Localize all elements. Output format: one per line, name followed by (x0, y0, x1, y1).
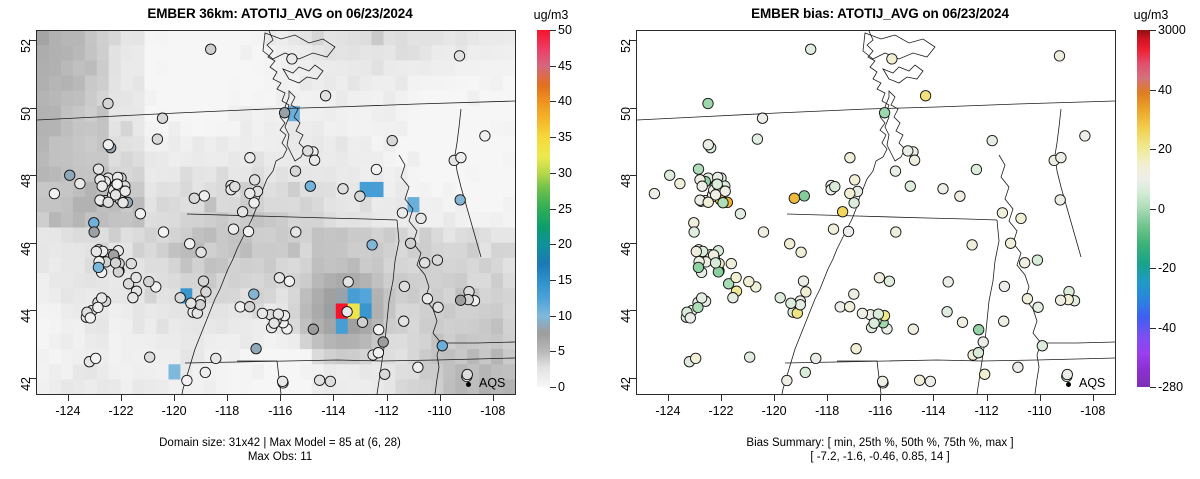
colorbar-tick (550, 101, 556, 102)
observation-site-marker[interactable] (857, 308, 867, 318)
observation-site-marker[interactable] (685, 313, 695, 323)
observation-site-marker[interactable] (65, 170, 75, 180)
aqs-legend-label: AQS (479, 376, 505, 390)
observation-site-marker[interactable] (830, 181, 840, 191)
colorbar-tick (1150, 268, 1156, 269)
bias-observation-markers (637, 31, 1115, 394)
observation-site-marker[interactable] (999, 281, 1009, 291)
x-tick (493, 395, 494, 401)
observation-site-marker[interactable] (75, 178, 85, 188)
observation-site-marker[interactable] (195, 300, 205, 310)
observation-site-marker[interactable] (49, 188, 59, 198)
colorbar-tick (1150, 387, 1156, 388)
observation-site-marker[interactable] (795, 300, 805, 310)
observation-site-marker[interactable] (785, 239, 795, 249)
observation-site-marker[interactable] (279, 108, 289, 118)
observation-site-marker[interactable] (456, 152, 466, 162)
observation-site-marker[interactable] (437, 341, 447, 351)
aqs-legend-label-bias: AQS (1079, 376, 1105, 390)
colorbar-tick-label: -20 (1158, 261, 1176, 275)
colorbar-tick (1150, 149, 1156, 150)
observation-site-marker[interactable] (93, 302, 103, 312)
caption-bias-summary-values: [ -7.2, -1.6, -0.46, 0.85, 14 ] (600, 450, 1160, 464)
observation-site-marker[interactable] (1080, 131, 1090, 141)
colorbar-tick-label: 0 (1158, 202, 1165, 216)
observation-site-marker[interactable] (413, 362, 423, 372)
observation-site-marker[interactable] (308, 324, 318, 334)
x-tick-label: -114 (903, 404, 963, 418)
observation-site-marker[interactable] (196, 247, 206, 257)
colorbar-tick (550, 209, 556, 210)
colorbar-tick (550, 30, 556, 31)
observation-site-marker[interactable] (97, 181, 107, 191)
observation-site-marker[interactable] (955, 191, 965, 201)
observation-site-marker[interactable] (1037, 341, 1047, 351)
observation-site-marker[interactable] (1013, 362, 1023, 372)
colorbar-tick-label: 50 (558, 23, 572, 37)
observation-site-marker[interactable] (849, 289, 859, 299)
observation-site-marker[interactable] (999, 316, 1009, 326)
colorbar-tick-label: 40 (558, 94, 572, 108)
observation-site-marker[interactable] (93, 164, 103, 174)
observation-site-marker[interactable] (971, 164, 981, 174)
colorbar-tick-label: 5 (558, 344, 565, 358)
observation-site-marker[interactable] (230, 181, 240, 191)
observation-site-marker[interactable] (693, 164, 703, 174)
y-tick-label: 46 (19, 242, 33, 268)
observation-site-marker[interactable] (909, 155, 919, 165)
aqs-legend-dot-icon-bias (1066, 382, 1071, 387)
x-tick (1093, 395, 1094, 401)
observation-site-marker[interactable] (942, 307, 952, 317)
x-tick (1040, 395, 1041, 401)
observation-site-marker[interactable] (397, 208, 407, 218)
observation-site-marker[interactable] (697, 293, 707, 303)
x-tick-label: -112 (357, 404, 417, 418)
observation-site-marker[interactable] (355, 191, 365, 201)
observation-site-marker[interactable] (189, 193, 199, 203)
x-tick (440, 395, 441, 401)
observation-site-marker[interactable] (905, 181, 915, 191)
observation-site-marker[interactable] (320, 91, 330, 101)
x-tick (121, 395, 122, 401)
observation-site-marker[interactable] (175, 293, 185, 303)
observation-site-marker[interactable] (243, 226, 253, 236)
caption-bias-summary-header: Bias Summary: [ min, 25th %, 50th %, 75t… (600, 436, 1160, 450)
colorbar-tick-label: 30 (558, 166, 572, 180)
observation-site-marker[interactable] (110, 258, 120, 268)
caption-domain-size: Domain size: 31x42 | Max Model = 85 at (… (0, 436, 560, 450)
observation-site-marker[interactable] (93, 262, 103, 272)
observation-site-marker[interactable] (455, 295, 465, 305)
observation-site-marker[interactable] (745, 352, 755, 362)
observation-site-marker[interactable] (206, 44, 216, 54)
observation-site-marker[interactable] (845, 302, 855, 312)
observation-site-marker[interactable] (837, 207, 847, 217)
aqs-legend-dot-icon (466, 382, 471, 387)
observation-site-marker[interactable] (710, 190, 720, 200)
observation-site-marker[interactable] (277, 376, 287, 386)
observation-site-marker[interactable] (849, 198, 859, 208)
observation-site-marker[interactable] (157, 113, 167, 123)
observation-site-marker[interactable] (290, 166, 300, 176)
observation-site-marker[interactable] (380, 369, 390, 379)
observation-site-marker[interactable] (387, 135, 397, 145)
x-tick (880, 395, 881, 401)
observation-site-marker[interactable] (1020, 258, 1030, 268)
observation-site-marker[interactable] (342, 307, 352, 317)
x-tick (387, 395, 388, 401)
observation-site-marker[interactable] (245, 302, 255, 312)
x-tick (987, 395, 988, 401)
colorbar-tick (550, 280, 556, 281)
x-tick (668, 395, 669, 401)
observation-site-marker[interactable] (914, 375, 924, 385)
observation-site-marker[interactable] (693, 262, 703, 272)
colorbar-tick-label: 20 (558, 237, 572, 251)
observation-site-marker[interactable] (735, 209, 745, 219)
observation-site-marker[interactable] (462, 369, 472, 379)
colorbar-gradient-model (537, 30, 550, 387)
observation-site-marker[interactable] (144, 276, 154, 286)
observation-site-marker[interactable] (85, 313, 95, 323)
x-tick (827, 395, 828, 401)
observation-site-marker[interactable] (399, 316, 409, 326)
observation-site-marker[interactable] (367, 240, 377, 250)
x-tick-label: -120 (744, 404, 804, 418)
observation-site-marker[interactable] (186, 298, 196, 308)
observation-site-marker[interactable] (1056, 152, 1066, 162)
figure-canvas: EMBER 36km: ATOTIJ_AVG on 06/23/2024 -12… (0, 0, 1200, 479)
y-tick-label: 44 (619, 309, 633, 335)
observation-site-marker[interactable] (432, 255, 442, 265)
observation-site-marker[interactable] (974, 325, 984, 335)
x-tick-label: -122 (91, 404, 151, 418)
y-tick-label: 48 (619, 174, 633, 200)
map-plot-model[interactable] (36, 30, 516, 395)
observation-site-marker[interactable] (257, 308, 267, 318)
observation-site-marker[interactable] (1054, 51, 1064, 61)
observation-site-marker[interactable] (1032, 255, 1042, 265)
observation-site-marker[interactable] (884, 276, 894, 286)
observation-site-marker[interactable] (433, 302, 443, 312)
observation-markers (37, 31, 515, 394)
observation-site-marker[interactable] (786, 298, 796, 308)
observation-site-marker[interactable] (420, 258, 430, 268)
observation-site-marker[interactable] (903, 146, 913, 156)
observation-site-marker[interactable] (691, 353, 701, 363)
observation-site-marker[interactable] (357, 317, 367, 327)
observation-site-marker[interactable] (665, 170, 675, 180)
x-tick-label: -108 (1063, 404, 1123, 418)
observation-site-marker[interactable] (801, 287, 811, 297)
observation-site-marker[interactable] (877, 376, 887, 386)
colorbar-tick (550, 173, 556, 174)
observation-site-marker[interactable] (235, 302, 245, 312)
colorbar-tick (1150, 209, 1156, 210)
colorbar-tick (550, 387, 556, 388)
colorbar-tick (550, 316, 556, 317)
observation-site-marker[interactable] (691, 246, 701, 256)
observation-site-marker[interactable] (249, 289, 259, 299)
observation-site-marker[interactable] (887, 54, 897, 64)
observation-site-marker[interactable] (806, 44, 816, 54)
observation-site-marker[interactable] (374, 325, 384, 335)
observation-site-marker[interactable] (251, 344, 261, 354)
observation-site-marker[interactable] (744, 276, 754, 286)
observation-site-marker[interactable] (789, 193, 799, 203)
x-tick (933, 395, 934, 401)
observation-site-marker[interactable] (343, 277, 353, 287)
observation-site-marker[interactable] (811, 353, 821, 363)
observation-site-marker[interactable] (399, 281, 409, 291)
panel-title-bias: EMBER bias: ATOTIJ_AVG on 06/23/2024 (600, 6, 1160, 21)
observation-site-marker[interactable] (1055, 295, 1065, 305)
colorbar-tick-label: 3000 (1158, 23, 1186, 37)
observation-site-marker[interactable] (103, 140, 113, 150)
observation-site-marker[interactable] (752, 134, 762, 144)
observation-site-marker[interactable] (480, 131, 490, 141)
observation-site-marker[interactable] (110, 190, 120, 200)
colorbar-tick (1150, 90, 1156, 91)
observation-site-marker[interactable] (890, 166, 900, 176)
observation-site-marker[interactable] (869, 318, 879, 328)
x-tick (774, 395, 775, 401)
observation-site-marker[interactable] (182, 375, 192, 385)
observation-site-marker[interactable] (978, 337, 988, 347)
x-tick-label: -120 (144, 404, 204, 418)
observation-site-marker[interactable] (454, 51, 464, 61)
x-tick-label: -122 (691, 404, 751, 418)
observation-site-marker[interactable] (1016, 213, 1026, 223)
y-tick-label: 42 (19, 377, 33, 403)
x-tick-label: -110 (410, 404, 470, 418)
observation-site-marker[interactable] (145, 352, 155, 362)
observation-site-marker[interactable] (97, 293, 107, 303)
colorbar-tick-label: 10 (558, 309, 572, 323)
y-tick-label: 44 (19, 309, 33, 335)
observation-site-marker[interactable] (405, 238, 415, 248)
colorbar-tick-label: 45 (558, 59, 572, 73)
y-tick-label: 52 (619, 39, 633, 65)
observation-site-marker[interactable] (152, 134, 162, 144)
observation-site-marker[interactable] (103, 98, 113, 108)
observation-site-marker[interactable] (305, 181, 315, 191)
observation-site-marker[interactable] (131, 272, 141, 282)
x-tick-label: -118 (797, 404, 857, 418)
observation-site-marker[interactable] (850, 175, 860, 185)
observation-site-marker[interactable] (943, 277, 953, 287)
observation-site-marker[interactable] (757, 113, 767, 123)
observation-site-marker[interactable] (775, 293, 785, 303)
x-tick (227, 395, 228, 401)
observation-site-marker[interactable] (250, 175, 260, 185)
colorbar-tick (1150, 328, 1156, 329)
colorbar-unit-bias: ug/m3 (1121, 8, 1181, 22)
observation-site-marker[interactable] (851, 344, 861, 354)
observation-site-marker[interactable] (987, 135, 997, 145)
observation-site-marker[interactable] (291, 227, 301, 237)
observation-site-marker[interactable] (373, 348, 383, 358)
panel-title-model: EMBER 36km: ATOTIJ_AVG on 06/23/2024 (0, 6, 560, 21)
observation-site-marker[interactable] (845, 153, 855, 163)
observation-site-marker[interactable] (726, 258, 736, 268)
colorbar-tick (1150, 30, 1156, 31)
observation-site-marker[interactable] (269, 318, 279, 328)
observation-site-marker[interactable] (799, 191, 809, 201)
observation-site-marker[interactable] (957, 317, 967, 327)
observation-site-marker[interactable] (1055, 195, 1065, 205)
x-tick-label: -114 (303, 404, 363, 418)
observation-site-marker[interactable] (199, 191, 209, 201)
observation-site-marker[interactable] (731, 272, 741, 282)
observation-site-marker[interactable] (287, 54, 297, 64)
x-tick (174, 395, 175, 401)
observation-site-marker[interactable] (689, 227, 699, 237)
observation-site-marker[interactable] (973, 348, 983, 358)
colorbar-tick-label: 40 (1158, 83, 1172, 97)
observation-site-marker[interactable] (920, 91, 930, 101)
x-tick-label: -118 (197, 404, 257, 418)
observation-site-marker[interactable] (228, 224, 238, 234)
observation-site-marker[interactable] (158, 227, 168, 237)
observation-site-marker[interactable] (128, 293, 138, 303)
colorbar-tick-label: 25 (558, 202, 572, 216)
panel-model: EMBER 36km: ATOTIJ_AVG on 06/23/2024 -12… (0, 0, 600, 479)
observation-site-marker[interactable] (891, 227, 901, 237)
x-tick-label: -110 (1010, 404, 1070, 418)
observation-site-marker[interactable] (798, 276, 808, 286)
colorbar-tick-label: 20 (1158, 142, 1172, 156)
observation-site-marker[interactable] (91, 246, 101, 256)
observation-site-marker[interactable] (378, 337, 388, 347)
colorbar-unit-model: ug/m3 (521, 8, 581, 22)
observation-site-marker[interactable] (89, 227, 99, 237)
observation-site-marker[interactable] (703, 98, 713, 108)
colorbar-tick (550, 351, 556, 352)
observation-site-marker[interactable] (675, 178, 685, 188)
observation-site-marker[interactable] (201, 287, 211, 297)
observation-site-marker[interactable] (710, 258, 720, 268)
y-tick-label: 50 (19, 107, 33, 133)
observation-site-marker[interactable] (1062, 369, 1072, 379)
observation-site-marker[interactable] (1033, 302, 1043, 312)
observation-site-marker[interactable] (1005, 238, 1015, 248)
observation-site-marker[interactable] (245, 153, 255, 163)
x-tick-label: -116 (250, 404, 310, 418)
y-tick-label: 52 (19, 39, 33, 65)
x-tick (721, 395, 722, 401)
observation-site-marker[interactable] (649, 188, 659, 198)
observation-site-marker[interactable] (835, 302, 845, 312)
x-tick-label: -116 (850, 404, 910, 418)
observation-site-marker[interactable] (135, 209, 145, 219)
observation-site-marker[interactable] (967, 240, 977, 250)
x-tick-label: -112 (957, 404, 1017, 418)
observation-site-marker[interactable] (693, 302, 703, 312)
observation-site-marker[interactable] (126, 258, 136, 268)
colorbar-tick-label: -280 (1158, 380, 1183, 394)
observation-site-marker[interactable] (800, 367, 810, 377)
observation-site-marker[interactable] (997, 208, 1007, 218)
observation-site-marker[interactable] (325, 376, 335, 386)
observation-site-marker[interactable] (728, 293, 738, 303)
observation-site-marker[interactable] (303, 146, 313, 156)
observation-site-marker[interactable] (185, 239, 195, 249)
colorbar-tick-label: -40 (1158, 321, 1176, 335)
observation-site-marker[interactable] (91, 353, 101, 363)
observation-site-marker[interactable] (284, 276, 294, 286)
observation-site-marker[interactable] (843, 226, 853, 236)
observation-site-marker[interactable] (120, 186, 130, 196)
colorbar-tick (550, 137, 556, 138)
x-tick-label: -124 (38, 404, 98, 418)
colorbar-tick (550, 244, 556, 245)
caption-max-obs: Max Obs: 11 (0, 450, 560, 464)
observation-site-marker[interactable] (720, 186, 730, 196)
observation-site-marker[interactable] (874, 273, 884, 283)
observation-site-marker[interactable] (237, 207, 247, 217)
observation-site-marker[interactable] (925, 376, 935, 386)
observation-site-marker[interactable] (211, 353, 221, 363)
observation-site-marker[interactable] (314, 375, 324, 385)
colorbar-tick-label: 15 (558, 273, 572, 287)
observation-site-marker[interactable] (245, 188, 255, 198)
observation-site-marker[interactable] (416, 213, 426, 223)
y-tick-label: 48 (19, 174, 33, 200)
observation-site-marker[interactable] (249, 198, 259, 208)
observation-site-marker[interactable] (422, 294, 432, 304)
observation-site-marker[interactable] (908, 324, 918, 334)
observation-site-marker[interactable] (828, 224, 838, 234)
observation-site-marker[interactable] (198, 276, 208, 286)
observation-site-marker[interactable] (703, 140, 713, 150)
y-tick-label: 42 (619, 377, 633, 403)
observation-site-marker[interactable] (980, 369, 990, 379)
map-plot-bias[interactable] (636, 30, 1116, 395)
observation-site-marker[interactable] (455, 195, 465, 205)
observation-site-marker[interactable] (338, 184, 348, 194)
observation-site-marker[interactable] (1022, 294, 1032, 304)
observation-site-marker[interactable] (758, 227, 768, 237)
x-tick (333, 395, 334, 401)
x-tick (68, 395, 69, 401)
y-tick-label: 46 (619, 242, 633, 268)
observation-site-marker[interactable] (845, 188, 855, 198)
x-tick-label: -108 (463, 404, 523, 418)
observation-site-marker[interactable] (782, 375, 792, 385)
observation-site-marker[interactable] (879, 108, 889, 118)
observation-site-marker[interactable] (371, 164, 381, 174)
colorbar-tick (550, 66, 556, 67)
colorbar-tick-label: 0 (558, 380, 565, 394)
x-tick-label: -124 (638, 404, 698, 418)
y-tick-label: 50 (619, 107, 633, 133)
observation-site-marker[interactable] (200, 367, 210, 377)
observation-site-marker[interactable] (796, 247, 806, 257)
colorbar-gradient-bias (1137, 30, 1150, 387)
panel-bias: EMBER bias: ATOTIJ_AVG on 06/23/2024 -12… (600, 0, 1200, 479)
observation-site-marker[interactable] (938, 184, 948, 194)
x-tick (280, 395, 281, 401)
observation-site-marker[interactable] (697, 181, 707, 191)
observation-site-marker[interactable] (274, 273, 284, 283)
colorbar-tick-label: 35 (558, 130, 572, 144)
observation-site-marker[interactable] (309, 155, 319, 165)
